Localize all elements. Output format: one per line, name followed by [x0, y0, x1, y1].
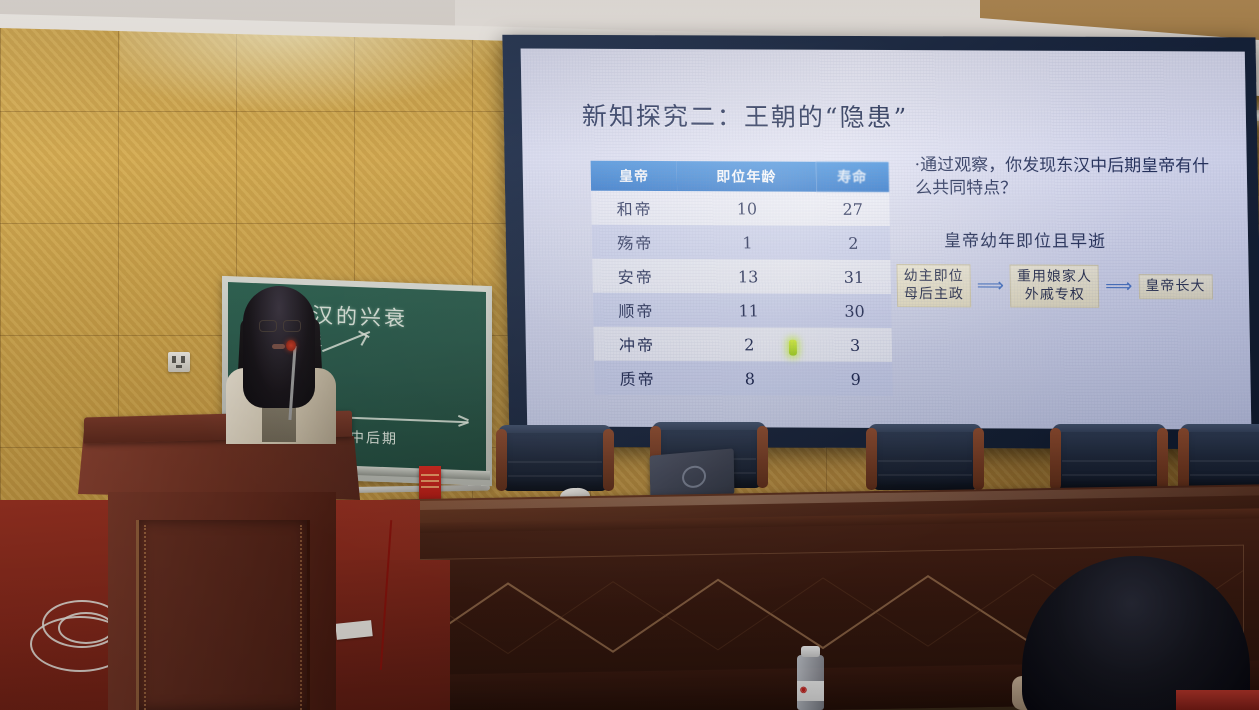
conference-chair — [1178, 424, 1259, 490]
wall-socket[interactable] — [168, 352, 190, 372]
bottle-label: ◉ — [797, 681, 824, 701]
conference-chair — [1050, 424, 1168, 490]
projection-screen[interactable]: 新知探究二：王朝的“隐患” 皇帝 即位年龄 寿命 和帝 10 27 — [521, 48, 1252, 429]
screen-texture — [521, 48, 1252, 429]
attendee-shoulder — [1176, 690, 1259, 710]
bottle-cap — [801, 646, 820, 657]
conference-chair — [866, 424, 984, 490]
water-bottle: ◉ — [797, 655, 824, 710]
conference-chair — [496, 425, 614, 491]
chalk-baseline-head — [458, 415, 469, 421]
microphone-icon — [286, 340, 296, 351]
chalk-arrow-head2 — [361, 334, 368, 345]
podium-front-panel — [136, 520, 310, 710]
laptop-logo-icon — [682, 465, 706, 489]
glasses-icon — [259, 320, 301, 330]
presenter-mouth — [272, 344, 285, 349]
classroom-photo-scene: 13 东汉的兴衰 兴衰 东汉中后期 新知探究二：王朝的“隐患” 皇帝 即位年龄 … — [0, 0, 1259, 710]
